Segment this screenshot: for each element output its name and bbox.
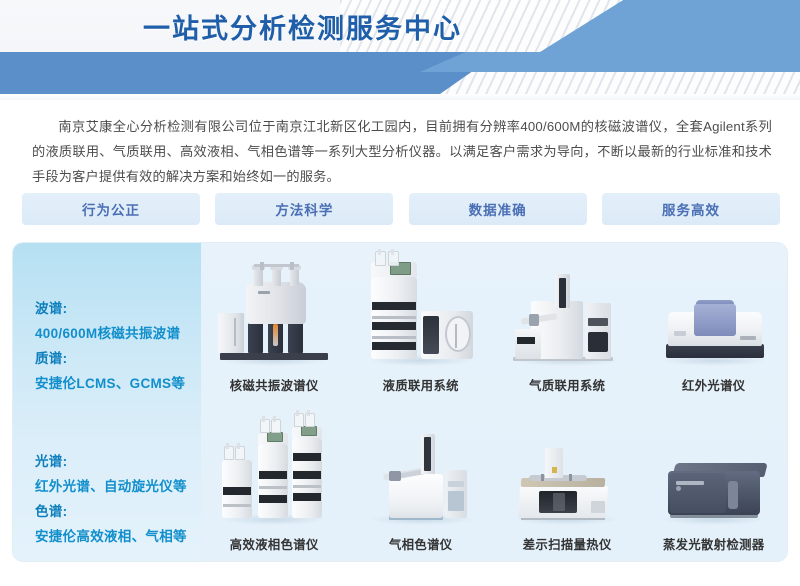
gas-chromatograph-icon <box>361 423 481 529</box>
instrument-cell-gc[interactable]: 气相色谱仪 <box>348 402 495 561</box>
instrument-cell-gcms[interactable]: 气质联用系统 <box>494 243 641 402</box>
instrument-row-2: 高效液相色谱仪 气相色谱仪 <box>201 402 787 561</box>
gcms-system-icon <box>507 264 627 370</box>
instrument-caption: 气质联用系统 <box>529 376 605 394</box>
banner-underline <box>0 94 800 100</box>
instrument-cell-elsd[interactable]: 蒸发光散射检测器 <box>641 402 788 561</box>
instrument-panel: 波谱: 400/600M核磁共振波谱 质谱: 安捷伦LCMS、GCMS等 光谱:… <box>13 243 787 561</box>
banner-blue-bar-right <box>420 52 800 72</box>
instrument-row-1: 核磁共振波谱仪 液质联用系统 <box>201 243 787 402</box>
instrument-caption: 差示扫描量热仪 <box>523 535 612 553</box>
instrument-cell-hplc[interactable]: 高效液相色谱仪 <box>201 402 348 561</box>
lcms-system-icon <box>361 264 481 370</box>
category-heading-chromatography: 色谱: <box>35 499 187 524</box>
category-block-optical-chroma: 光谱: 红外光谱、自动旋光仪等 色谱: 安捷伦高效液相、气相等 <box>35 449 187 549</box>
category-heading-massspec: 质谱: <box>35 346 185 371</box>
banner-blue-bar <box>0 52 500 94</box>
instrument-caption: 高效液相色谱仪 <box>230 535 319 553</box>
instrument-grid-area: 核磁共振波谱仪 液质联用系统 <box>201 243 787 561</box>
category-body-lcms-gcms: 安捷伦LCMS、GCMS等 <box>35 371 185 396</box>
feature-pill-fairness[interactable]: 行为公正 <box>22 193 200 225</box>
page-header-banner: 一站式分析检测服务中心 <box>0 0 800 100</box>
ftir-spectrometer-icon <box>654 264 774 370</box>
category-heading-boputext: 波谱: <box>35 296 185 321</box>
feature-pill-row: 行为公正 方法科学 数据准确 服务高效 <box>22 193 780 225</box>
instrument-cell-ftir[interactable]: 红外光谱仪 <box>641 243 788 402</box>
category-block-spectroscopy-ms: 波谱: 400/600M核磁共振波谱 质谱: 安捷伦LCMS、GCMS等 <box>35 296 185 396</box>
dsc-calorimeter-icon <box>507 423 627 529</box>
instrument-caption: 液质联用系统 <box>383 376 459 394</box>
page-title: 一站式分析检测服务中心 <box>143 7 462 46</box>
instrument-caption: 气相色谱仪 <box>389 535 453 553</box>
instrument-caption: 红外光谱仪 <box>682 376 746 394</box>
category-body-ir-polarimeter: 红外光谱、自动旋光仪等 <box>35 474 187 499</box>
category-body-nmr: 400/600M核磁共振波谱 <box>35 321 185 346</box>
instrument-caption: 蒸发光散射检测器 <box>663 535 765 553</box>
instrument-caption: 核磁共振波谱仪 <box>230 376 319 394</box>
instrument-cell-lcms[interactable]: 液质联用系统 <box>348 243 495 402</box>
instrument-cell-dsc[interactable]: 差示扫描量热仪 <box>494 402 641 561</box>
feature-pill-scientific[interactable]: 方法科学 <box>215 193 393 225</box>
feature-pill-accurate[interactable]: 数据准确 <box>409 193 587 225</box>
category-body-hplc-gc: 安捷伦高效液相、气相等 <box>35 524 187 549</box>
category-heading-optical: 光谱: <box>35 449 187 474</box>
instrument-cell-nmr[interactable]: 核磁共振波谱仪 <box>201 243 348 402</box>
hplc-chromatograph-icon <box>214 423 334 529</box>
company-intro-paragraph: 南京艾康全心分析检测有限公司位于南京江北新区化工园内，目前拥有分辨率400/60… <box>32 114 772 189</box>
category-sidebar: 波谱: 400/600M核磁共振波谱 质谱: 安捷伦LCMS、GCMS等 光谱:… <box>13 243 201 561</box>
elsd-detector-icon <box>654 423 774 529</box>
feature-pill-efficient[interactable]: 服务高效 <box>602 193 780 225</box>
nmr-spectrometer-icon <box>214 264 334 370</box>
instrument-grid: 核磁共振波谱仪 液质联用系统 <box>201 243 787 561</box>
